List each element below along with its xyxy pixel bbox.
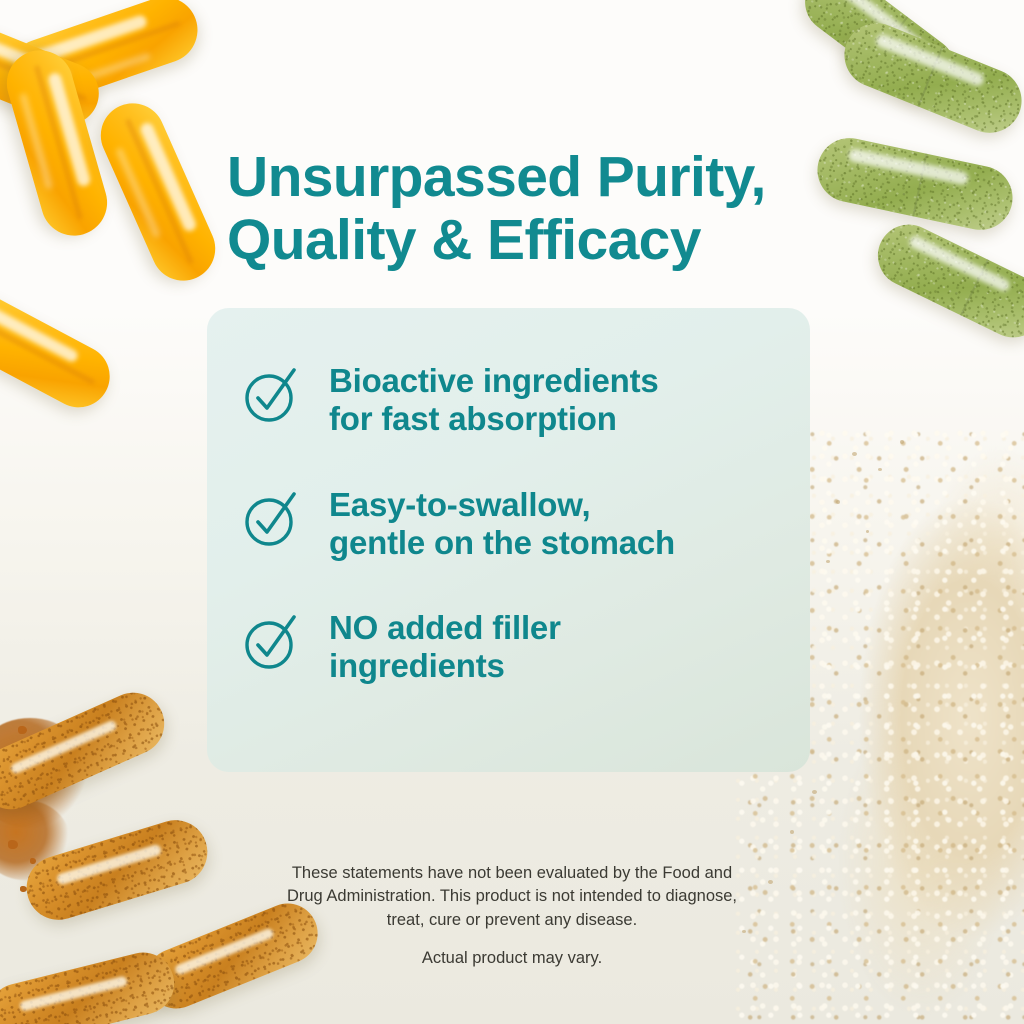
green-capsule xyxy=(793,0,968,112)
page-title: Unsurpassed Purity, Quality & Efficacy xyxy=(227,146,887,273)
powder-speck xyxy=(878,468,882,471)
powder-speck xyxy=(836,500,840,504)
check-circle-icon xyxy=(241,364,303,426)
softgel-capsule xyxy=(0,20,108,134)
softgel-capsule xyxy=(1,0,207,114)
softgel-capsule xyxy=(91,93,226,291)
powder-speck xyxy=(826,560,830,563)
softgel-capsule xyxy=(0,43,115,244)
benefit-label: Easy-to-swallow, gentle on the stomach xyxy=(329,484,675,563)
amber-capsule xyxy=(0,683,174,819)
powder-speck xyxy=(790,830,794,834)
benefit-label: NO added filler ingredients xyxy=(329,607,561,686)
turmeric-powder-spill xyxy=(0,718,90,828)
promo-canvas: Unsurpassed Purity, Quality & Efficacy B… xyxy=(0,0,1024,1024)
powder-crumb xyxy=(20,886,27,892)
green-capsule xyxy=(867,214,1024,348)
powder-speck xyxy=(812,790,817,794)
powder-speck xyxy=(866,530,869,533)
powder-crumb xyxy=(18,726,27,734)
softgel-capsule xyxy=(0,284,121,419)
check-circle-icon xyxy=(241,488,303,550)
green-capsule xyxy=(835,13,1024,142)
powder-crumb xyxy=(48,876,53,881)
amber-capsule xyxy=(19,812,216,928)
powder-crumb xyxy=(38,744,45,750)
yellow-fish-oil-softgels xyxy=(0,0,230,420)
benefit-label: Bioactive ingredients for fast absorptio… xyxy=(329,360,659,439)
benefit-item: NO added filler ingredients xyxy=(241,607,776,686)
powder-crumb xyxy=(8,840,18,849)
powder-speck xyxy=(852,452,857,456)
product-variance-note: Actual product may vary. xyxy=(222,949,802,968)
benefit-item: Easy-to-swallow, gentle on the stomach xyxy=(241,484,776,563)
benefit-item: Bioactive ingredients for fast absorptio… xyxy=(241,360,776,439)
benefits-card: Bioactive ingredients for fast absorptio… xyxy=(207,308,810,772)
powder-crumb xyxy=(30,858,36,864)
turmeric-powder-spill xyxy=(0,800,70,880)
fda-disclaimer: These statements have not been evaluated… xyxy=(222,862,802,934)
check-circle-icon xyxy=(241,611,303,673)
powder-speck xyxy=(900,440,904,444)
amber-capsule xyxy=(0,946,181,1024)
